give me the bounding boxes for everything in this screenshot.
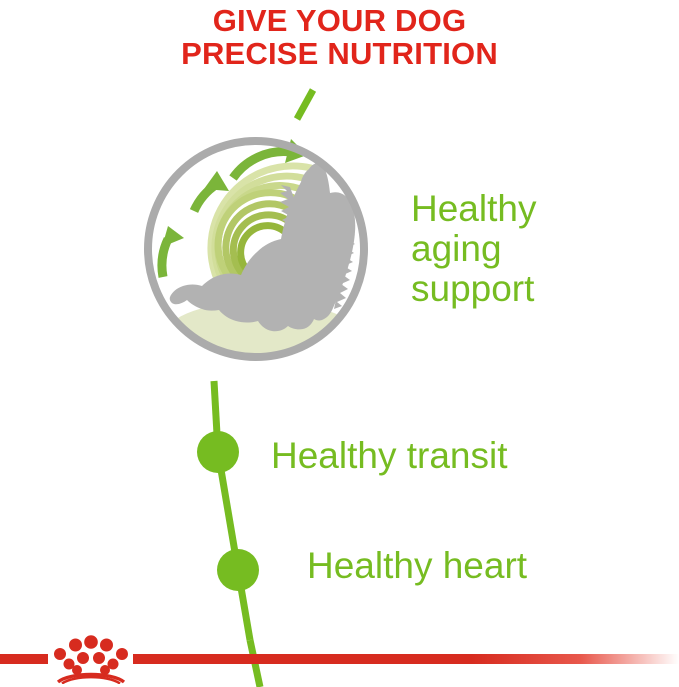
page-title: GIVE YOUR DOG PRECISE NUTRITION [0, 4, 679, 70]
page-title-line-1: GIVE YOUR DOG [0, 4, 679, 37]
healthy-aging-dog-badge [141, 125, 371, 373]
connector-segment-lower [238, 570, 250, 640]
footer-rule-left [0, 654, 48, 664]
footer-rule-right [133, 654, 679, 664]
connector-node-dot-transit [197, 431, 239, 473]
product-feature-infographic: GIVE YOUR DOG PRECISE NUTRITION [0, 0, 679, 687]
connector-node-dot-heart [217, 549, 259, 591]
connector-segment-middle [218, 452, 238, 570]
page-title-line-2: PRECISE NUTRITION [0, 37, 679, 70]
feature-label-healthy-heart: Healthy heart [307, 546, 527, 586]
crown-logo-artwork [50, 632, 132, 684]
feature-label-healthy-transit: Healthy transit [271, 436, 508, 476]
feature-label-healthy-aging-support: Healthy aging support [411, 189, 536, 309]
royal-canin-crown-logo [50, 632, 132, 684]
badge-artwork [141, 125, 371, 373]
connector-segment-top [297, 90, 313, 119]
connector-segment-upper [214, 381, 218, 452]
